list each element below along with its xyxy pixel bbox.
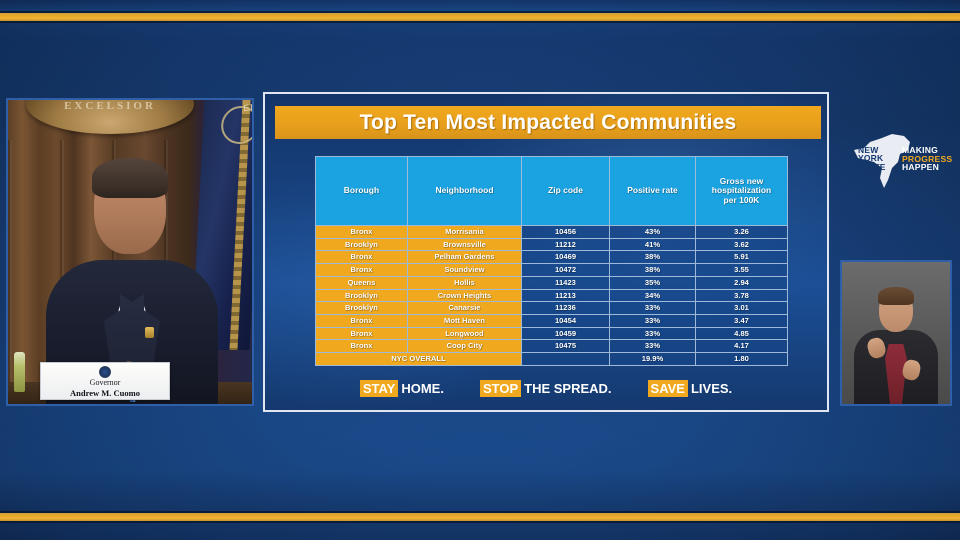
cell-zip: 10454 <box>522 314 610 327</box>
cell-zip: 11213 <box>522 289 610 302</box>
cell-neighborhood: Canarsie <box>408 302 522 315</box>
table-row: BrooklynCrown Heights1121334%3.78 <box>316 289 788 302</box>
cell-neighborhood: Pelham Gardens <box>408 251 522 264</box>
cell-overall-hospitalization: 1.80 <box>696 353 788 366</box>
table-row: BronxCoop City1047533%4.17 <box>316 340 788 353</box>
cell-borough: Brooklyn <box>316 289 408 302</box>
cell-positive-rate: 33% <box>610 340 696 353</box>
cell-positive-rate: 33% <box>610 327 696 340</box>
logo-state-text: NEW YORK STATE <box>858 146 886 171</box>
excelsior-seal-text: EXCELSIOR <box>30 100 190 112</box>
public-health-slogan: STAYHOME. STOPTHE SPREAD. SAVELIVES. <box>265 381 827 396</box>
cell-zip: 11212 <box>522 238 610 251</box>
presentation-slide: Top Ten Most Impacted Communities Boroug… <box>263 92 829 412</box>
slide-title: Top Ten Most Impacted Communities <box>360 111 737 135</box>
table-row: BronxMorrisania1045643%3.26 <box>316 226 788 239</box>
hosp-header-line-3: per 100K <box>696 196 787 206</box>
new-york-state-logo: NEW YORK STATE MAKING PROGRESS HAPPEN <box>852 126 954 192</box>
cell-hospitalization: 3.78 <box>696 289 788 302</box>
cell-zip: 10472 <box>522 264 610 277</box>
cell-positive-rate: 38% <box>610 264 696 277</box>
slogan-item-2: STOPTHE SPREAD. <box>480 381 612 396</box>
cell-borough: Bronx <box>316 226 408 239</box>
cell-hospitalization: 2.94 <box>696 276 788 289</box>
table-row: BrooklynCanarsie1123633%3.01 <box>316 302 788 315</box>
impacted-communities-table: Borough Neighborhood Zip code Positive r… <box>315 156 788 366</box>
nameplate-seal-icon <box>99 366 111 378</box>
slogan-rest-3: LIVES. <box>691 381 732 396</box>
broadcast-screen: EXCELSIOR ELS Governor Andrew M. Cuomo T… <box>0 0 960 540</box>
cell-neighborhood: Coop City <box>408 340 522 353</box>
cell-neighborhood: Longwood <box>408 327 522 340</box>
cell-positive-rate: 41% <box>610 238 696 251</box>
cell-overall-zip <box>522 353 610 366</box>
table-row: BronxMott Haven1045433%3.47 <box>316 314 788 327</box>
cell-neighborhood: Brownsville <box>408 238 522 251</box>
table-row: BronxLongwood1045933%4.85 <box>316 327 788 340</box>
cell-neighborhood: Crown Heights <box>408 289 522 302</box>
interpreter-hair <box>878 287 914 305</box>
cell-hospitalization: 3.62 <box>696 238 788 251</box>
nameplate-title: Governor <box>41 378 169 388</box>
cell-positive-rate: 35% <box>610 276 696 289</box>
slogan-highlight-3: SAVE <box>648 380 688 397</box>
table-row: QueensHollis1142335%2.94 <box>316 276 788 289</box>
cell-borough: Queens <box>316 276 408 289</box>
slogan-item-1: STAYHOME. <box>360 381 444 396</box>
slide-title-bar: Top Ten Most Impacted Communities <box>275 106 821 139</box>
cell-hospitalization: 3.47 <box>696 314 788 327</box>
cell-hospitalization: 3.26 <box>696 226 788 239</box>
table-row-overall: NYC OVERALL19.9%1.80 <box>316 353 788 366</box>
bottom-gold-stripe <box>0 513 960 521</box>
slogan-rest-2: THE SPREAD. <box>524 381 611 396</box>
cell-zip: 11236 <box>522 302 610 315</box>
slogan-rest-1: HOME. <box>401 381 444 396</box>
bottom-stripe-edge-lower <box>0 521 960 523</box>
sign-language-interpreter-panel[interactable] <box>840 260 952 406</box>
cell-hospitalization: 4.85 <box>696 327 788 340</box>
table-header-row: Borough Neighborhood Zip code Positive r… <box>316 157 788 226</box>
cell-hospitalization: 3.01 <box>696 302 788 315</box>
cell-overall-positive-rate: 19.9% <box>610 353 696 366</box>
cell-positive-rate: 38% <box>610 251 696 264</box>
logo-state-line3: STATE <box>858 163 886 171</box>
cell-borough: Bronx <box>316 264 408 277</box>
governor-video-panel[interactable]: EXCELSIOR ELS Governor Andrew M. Cuomo <box>6 98 254 406</box>
slogan-item-3: SAVELIVES. <box>648 381 733 396</box>
water-bottle <box>14 352 25 392</box>
table-row: BronxSoundview1047238%3.55 <box>316 264 788 277</box>
nameplate: Governor Andrew M. Cuomo <box>40 362 170 400</box>
cell-borough: Bronx <box>316 251 408 264</box>
column-header-borough: Borough <box>316 157 408 226</box>
cell-positive-rate: 43% <box>610 226 696 239</box>
cell-neighborhood: Mott Haven <box>408 314 522 327</box>
top-gold-stripe <box>0 13 960 21</box>
cell-neighborhood: Soundview <box>408 264 522 277</box>
cell-positive-rate: 33% <box>610 314 696 327</box>
cell-positive-rate: 34% <box>610 289 696 302</box>
cell-borough: Brooklyn <box>316 302 408 315</box>
cell-borough: Bronx <box>316 327 408 340</box>
column-header-neighborhood: Neighborhood <box>408 157 522 226</box>
lapel-pin-icon <box>145 327 154 338</box>
cell-positive-rate: 33% <box>610 302 696 315</box>
cell-hospitalization: 3.55 <box>696 264 788 277</box>
top-stripe-edge-lower <box>0 21 960 23</box>
cell-borough: Bronx <box>316 314 408 327</box>
cell-zip: 11423 <box>522 276 610 289</box>
cell-hospitalization: 4.17 <box>696 340 788 353</box>
cell-zip: 10475 <box>522 340 610 353</box>
governor-hair <box>92 158 168 198</box>
interpreter-torso <box>854 330 938 406</box>
table-row: BrooklynBrownsville1121241%3.62 <box>316 238 788 251</box>
table-row: BronxPelham Gardens1046938%5.91 <box>316 251 788 264</box>
nameplate-name: Andrew M. Cuomo <box>41 388 169 398</box>
cell-neighborhood: Morrisania <box>408 226 522 239</box>
flag-label: ELS <box>243 101 254 114</box>
slogan-highlight-2: STOP <box>480 380 521 397</box>
cell-borough: Bronx <box>316 340 408 353</box>
slogan-highlight-1: STAY <box>360 380 399 397</box>
cell-borough: Brooklyn <box>316 238 408 251</box>
column-header-positive-rate: Positive rate <box>610 157 696 226</box>
cell-zip: 10459 <box>522 327 610 340</box>
cell-zip: 10469 <box>522 251 610 264</box>
cell-zip: 10456 <box>522 226 610 239</box>
table-body: BronxMorrisania1045643%3.26BrooklynBrown… <box>316 226 788 366</box>
cell-overall-label: NYC OVERALL <box>316 353 522 366</box>
logo-tagline: MAKING PROGRESS HAPPEN <box>902 146 952 172</box>
column-header-zip: Zip code <box>522 157 610 226</box>
column-header-hospitalization: Gross new hospitalization per 100K <box>696 157 788 226</box>
cell-neighborhood: Hollis <box>408 276 522 289</box>
cell-hospitalization: 5.91 <box>696 251 788 264</box>
logo-tag-line3: HAPPEN <box>902 163 952 172</box>
